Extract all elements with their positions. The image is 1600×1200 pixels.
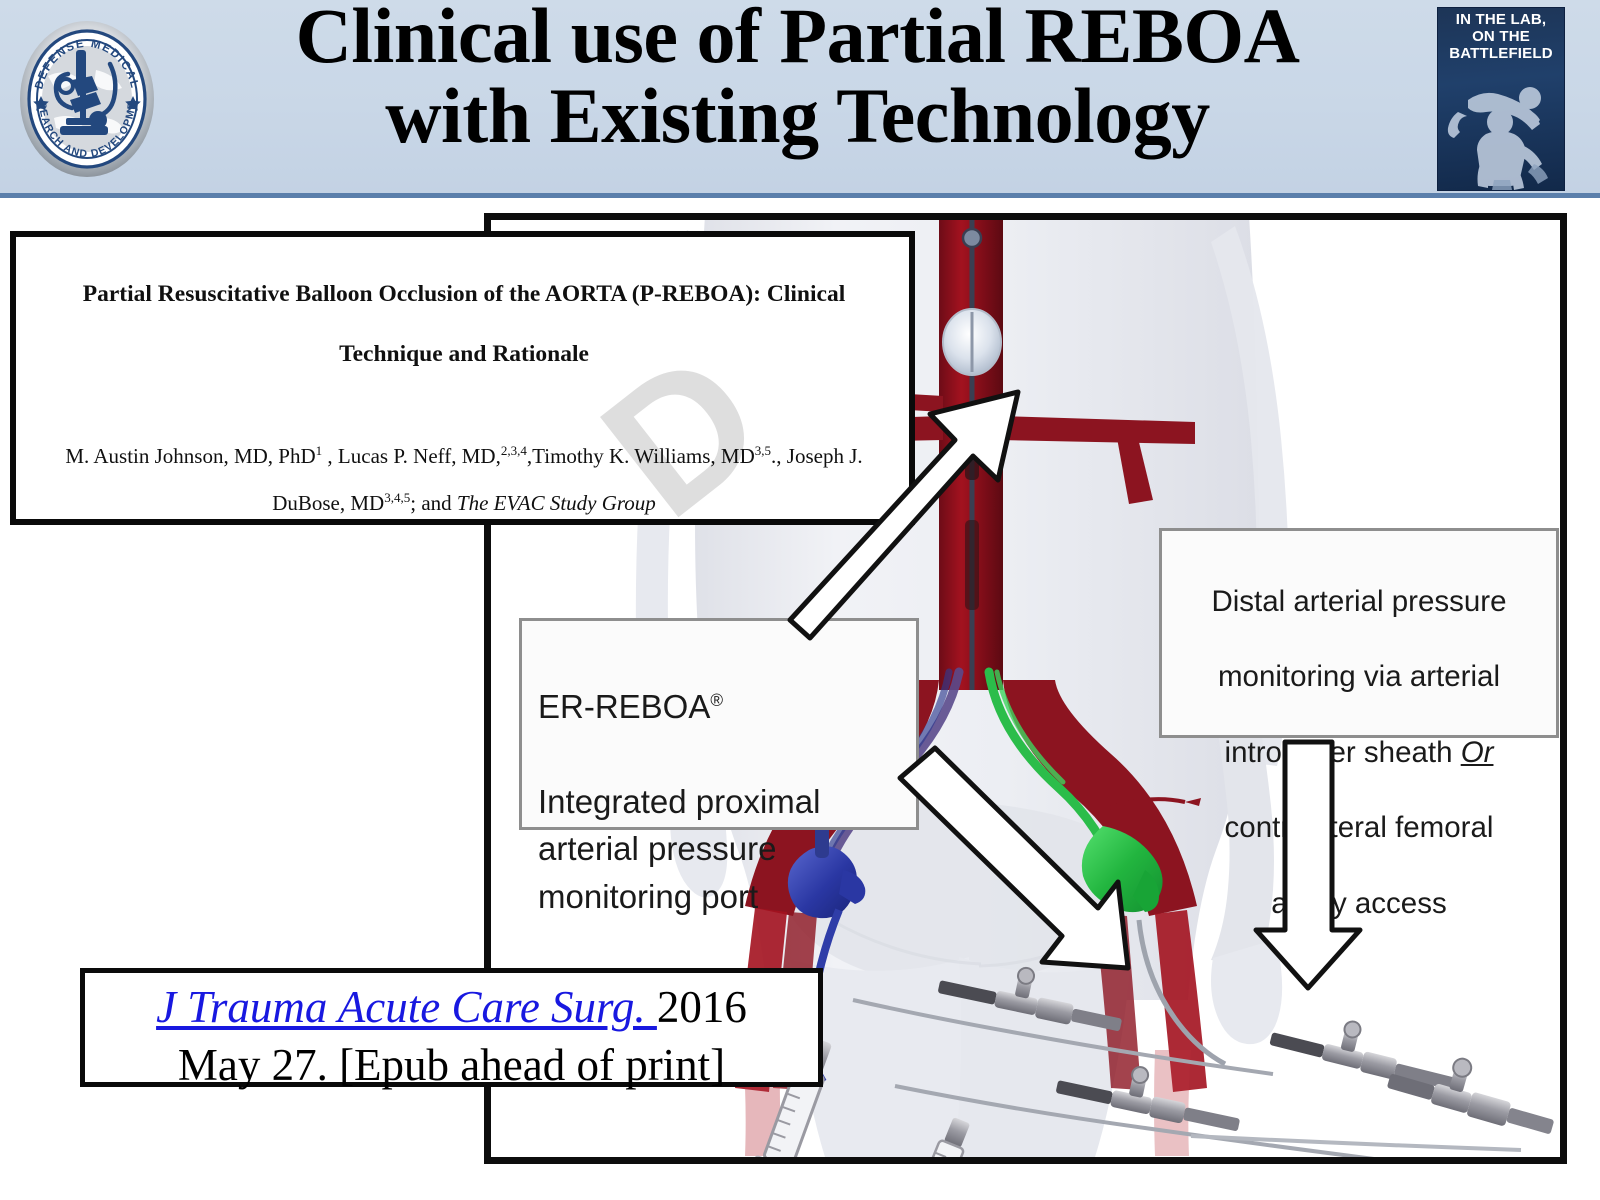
callout-er-reboa: ER-REBOA® Integrated proximal arterial p…: [519, 618, 919, 830]
author-1: M. Austin Johnson, MD, PhD1: [65, 444, 322, 468]
callout-distal-line3: introducer sheath: [1225, 736, 1461, 769]
study-group-name: The EVAC Study Group: [457, 491, 656, 515]
author-3: ,Timothy K. Williams, MD3,5.: [527, 444, 776, 468]
callout-distal-or: Or: [1461, 736, 1494, 769]
badge-caption-text: IN THE LAB, ON THE BATTLEFIELD: [1438, 12, 1564, 62]
slide-title: Clinical use of Partial REBOA with Exist…: [170, 0, 1425, 157]
registered-trademark-icon: ®: [710, 690, 723, 710]
author-2: , Lucas P. Neff, MD,2,3,4: [322, 444, 527, 468]
callout-distal-line4: contralateral femoral: [1225, 811, 1494, 844]
author-5: DuBose, MD3,4,5; and: [272, 491, 457, 515]
callout-distal-line5: artery access: [1271, 887, 1446, 920]
callout-distal-pressure: Distal arterial pressure monitoring via …: [1159, 528, 1559, 738]
callout-distal-line1: Distal arterial pressure: [1211, 585, 1506, 618]
in-the-lab-on-the-battlefield-badge: IN THE LAB, ON THE BATTLEFIELD: [1438, 8, 1564, 190]
citation-detail: May 27. [Epub ahead of print]: [85, 1037, 818, 1095]
article-reference-box: D Partial Resuscitative Balloon Occlusio…: [10, 231, 915, 525]
defense-medical-research-development-seal-icon: DEFENSE MEDICAL RESEARCH AND DEVELOPMENT: [14, 14, 160, 184]
citation-year: 2016: [657, 982, 747, 1032]
slide-header: DEFENSE MEDICAL RESEARCH AND DEVELOPMENT…: [0, 0, 1600, 198]
author-4: , Joseph J.: [776, 444, 862, 468]
article-title: Partial Resuscitative Balloon Occlusion …: [34, 265, 894, 385]
callout-distal-line2: monitoring via arterial: [1218, 660, 1500, 693]
callout-er-reboa-title: ER-REBOA: [538, 688, 710, 725]
journal-citation-box: J Trauma Acute Care Surg. 2016 May 27. […: [80, 968, 823, 1087]
article-authors: M. Austin Johnson, MD, PhD1 , Lucas P. N…: [28, 433, 900, 525]
soldier-carrying-soldier-icon: [1438, 60, 1564, 190]
journal-link[interactable]: J Trauma Acute Care Surg.: [156, 982, 657, 1032]
